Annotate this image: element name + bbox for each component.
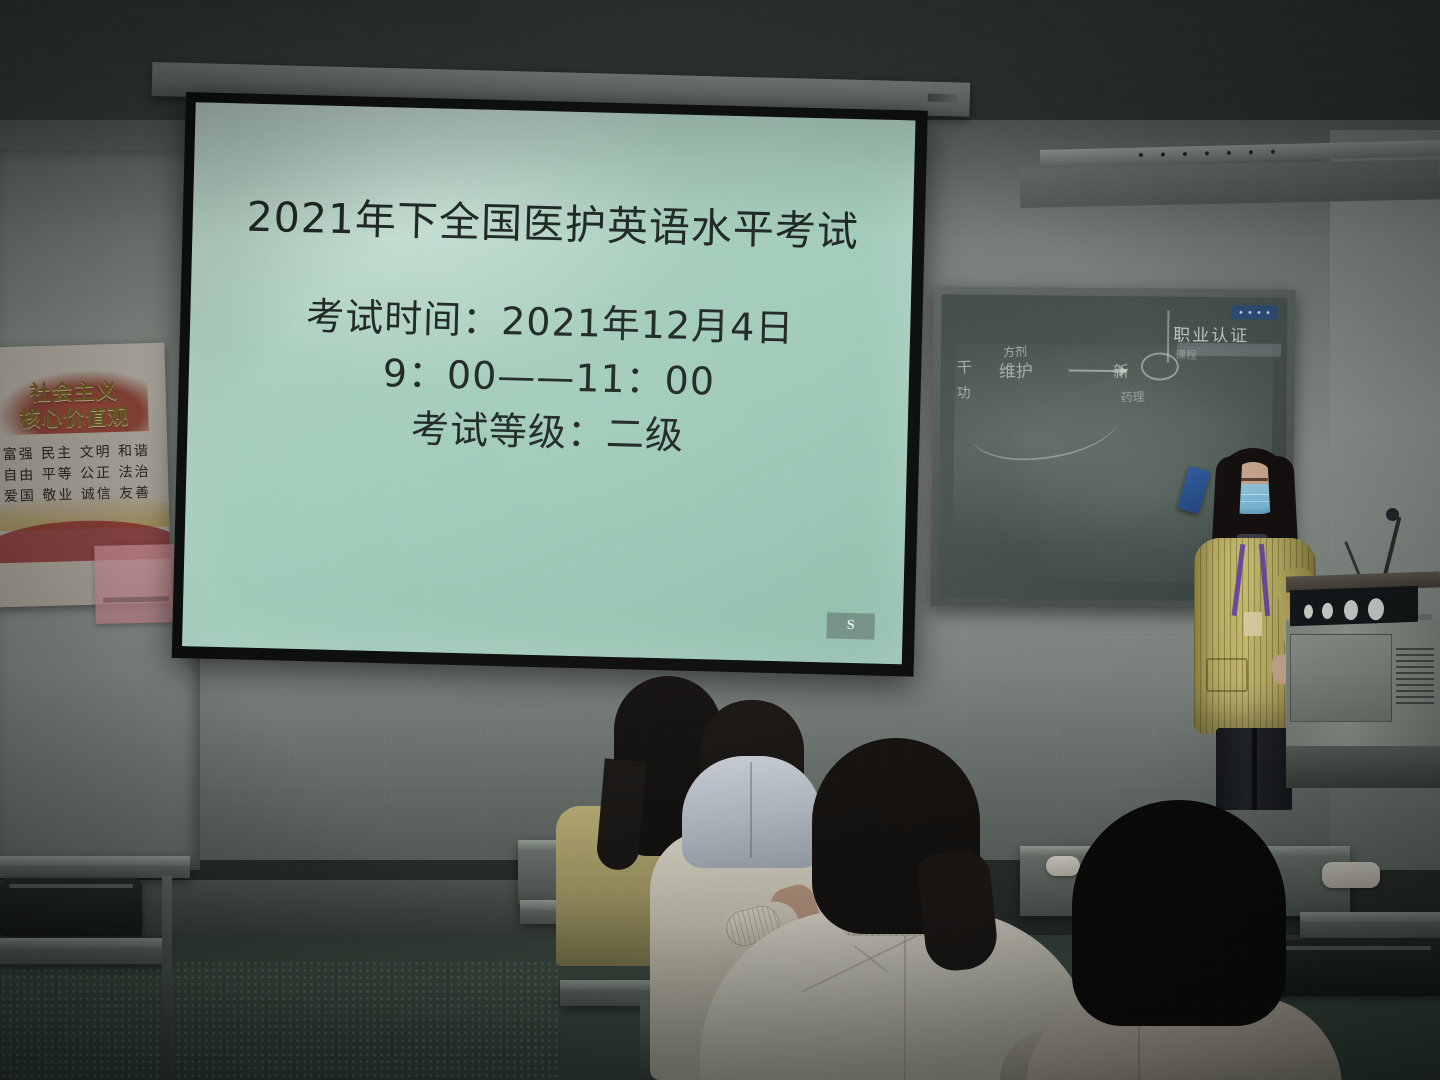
chair-rail <box>9 884 134 888</box>
blackboard-scrawl-5: 新 <box>1113 358 1130 382</box>
podium-cabinet-door <box>1290 634 1392 722</box>
student-2-hood <box>682 756 822 868</box>
microphone-head-icon <box>1386 508 1399 521</box>
slide-text-block: 2021年下全国医护英语水平考试 考试时间：2021年12月4日 9：00——1… <box>187 190 913 469</box>
slide-body: 考试时间：2021年12月4日 9：00——11：00 考试等级：二级 <box>187 286 911 469</box>
blackboard-circled-word <box>1141 352 1179 380</box>
podium-button-2[interactable] <box>1322 603 1333 619</box>
hood-seam <box>750 762 752 858</box>
teacher-coat-pocket <box>1206 658 1248 692</box>
rail-holes <box>1130 148 1290 159</box>
label-dots-icon <box>1236 310 1272 314</box>
desk-surface <box>0 938 166 948</box>
desk-foreground-far-left <box>0 856 190 878</box>
teacher-leg-gap <box>1252 728 1257 810</box>
projector-screen-frame: 2021年下全国医护英语水平考试 考试时间：2021年12月4日 9：00——1… <box>172 92 928 677</box>
blackboard-blue-label-icon <box>1231 305 1277 319</box>
desk-item-tissue <box>1046 856 1080 876</box>
podium-button-3[interactable] <box>1344 600 1358 620</box>
slide-corner-badge: S <box>826 612 875 639</box>
desk-surface <box>0 856 190 866</box>
blackboard-scrawl-3: 维护 <box>999 357 1034 383</box>
blackboard-scrawl-1: 干 <box>956 356 972 378</box>
desk-surface <box>1300 912 1440 922</box>
teacher-eyebrows <box>1238 478 1268 481</box>
screen-brand-logo-icon <box>928 94 958 103</box>
wall-notice-card <box>94 544 178 624</box>
coat-seam-vertical <box>904 926 906 1080</box>
teacher-legs <box>1216 728 1292 810</box>
poster-heading: 社会主义 核心价值观 <box>0 377 155 437</box>
chair-right-foreground <box>1260 940 1440 996</box>
student-4-hair <box>1072 800 1286 1026</box>
desk-leg-left <box>162 876 172 1080</box>
classroom-scene: 社会主义 核心价值观 富强 民主 文明 和谐 自由 平等 公正 法治 爱国 敬业… <box>0 0 1440 1080</box>
slide-title: 2021年下全国医护英语水平考试 <box>192 190 913 258</box>
blackboard-scrawl-4: 功 <box>956 382 970 402</box>
podium-button-1[interactable] <box>1304 604 1313 618</box>
podium-button-4[interactable] <box>1368 598 1384 621</box>
poster-heading-line2: 核心价值观 <box>0 403 155 433</box>
chair-rail <box>1271 946 1431 950</box>
podium-vent-grille-icon <box>1396 648 1434 704</box>
projected-slide: 2021年下全国医护英语水平考试 考试时间：2021年12月4日 9：00——1… <box>182 102 916 664</box>
desk-item-bag <box>1322 862 1380 888</box>
desk-foreground-left-lower <box>0 938 166 964</box>
floor-texture <box>0 960 560 1080</box>
blackboard-corner-sub: 课程 <box>1175 347 1197 363</box>
chair-foreground-far-left <box>0 878 142 936</box>
coat-seam-diagonal-2 <box>854 945 888 972</box>
coat-seam-diagonal-1 <box>802 934 920 993</box>
notice-text-line <box>103 596 169 602</box>
podium-base <box>1286 746 1440 788</box>
teacher-id-badge <box>1244 612 1262 636</box>
desk-right-mid <box>1300 912 1440 938</box>
podium-control-panel <box>1290 586 1418 626</box>
lectern-podium <box>1286 560 1440 790</box>
blackboard-scrawl-6: 药理 <box>1120 388 1145 406</box>
blackboard-corner-title: 职业认证 <box>1173 321 1249 347</box>
student-3-hair-tail <box>916 849 1000 974</box>
